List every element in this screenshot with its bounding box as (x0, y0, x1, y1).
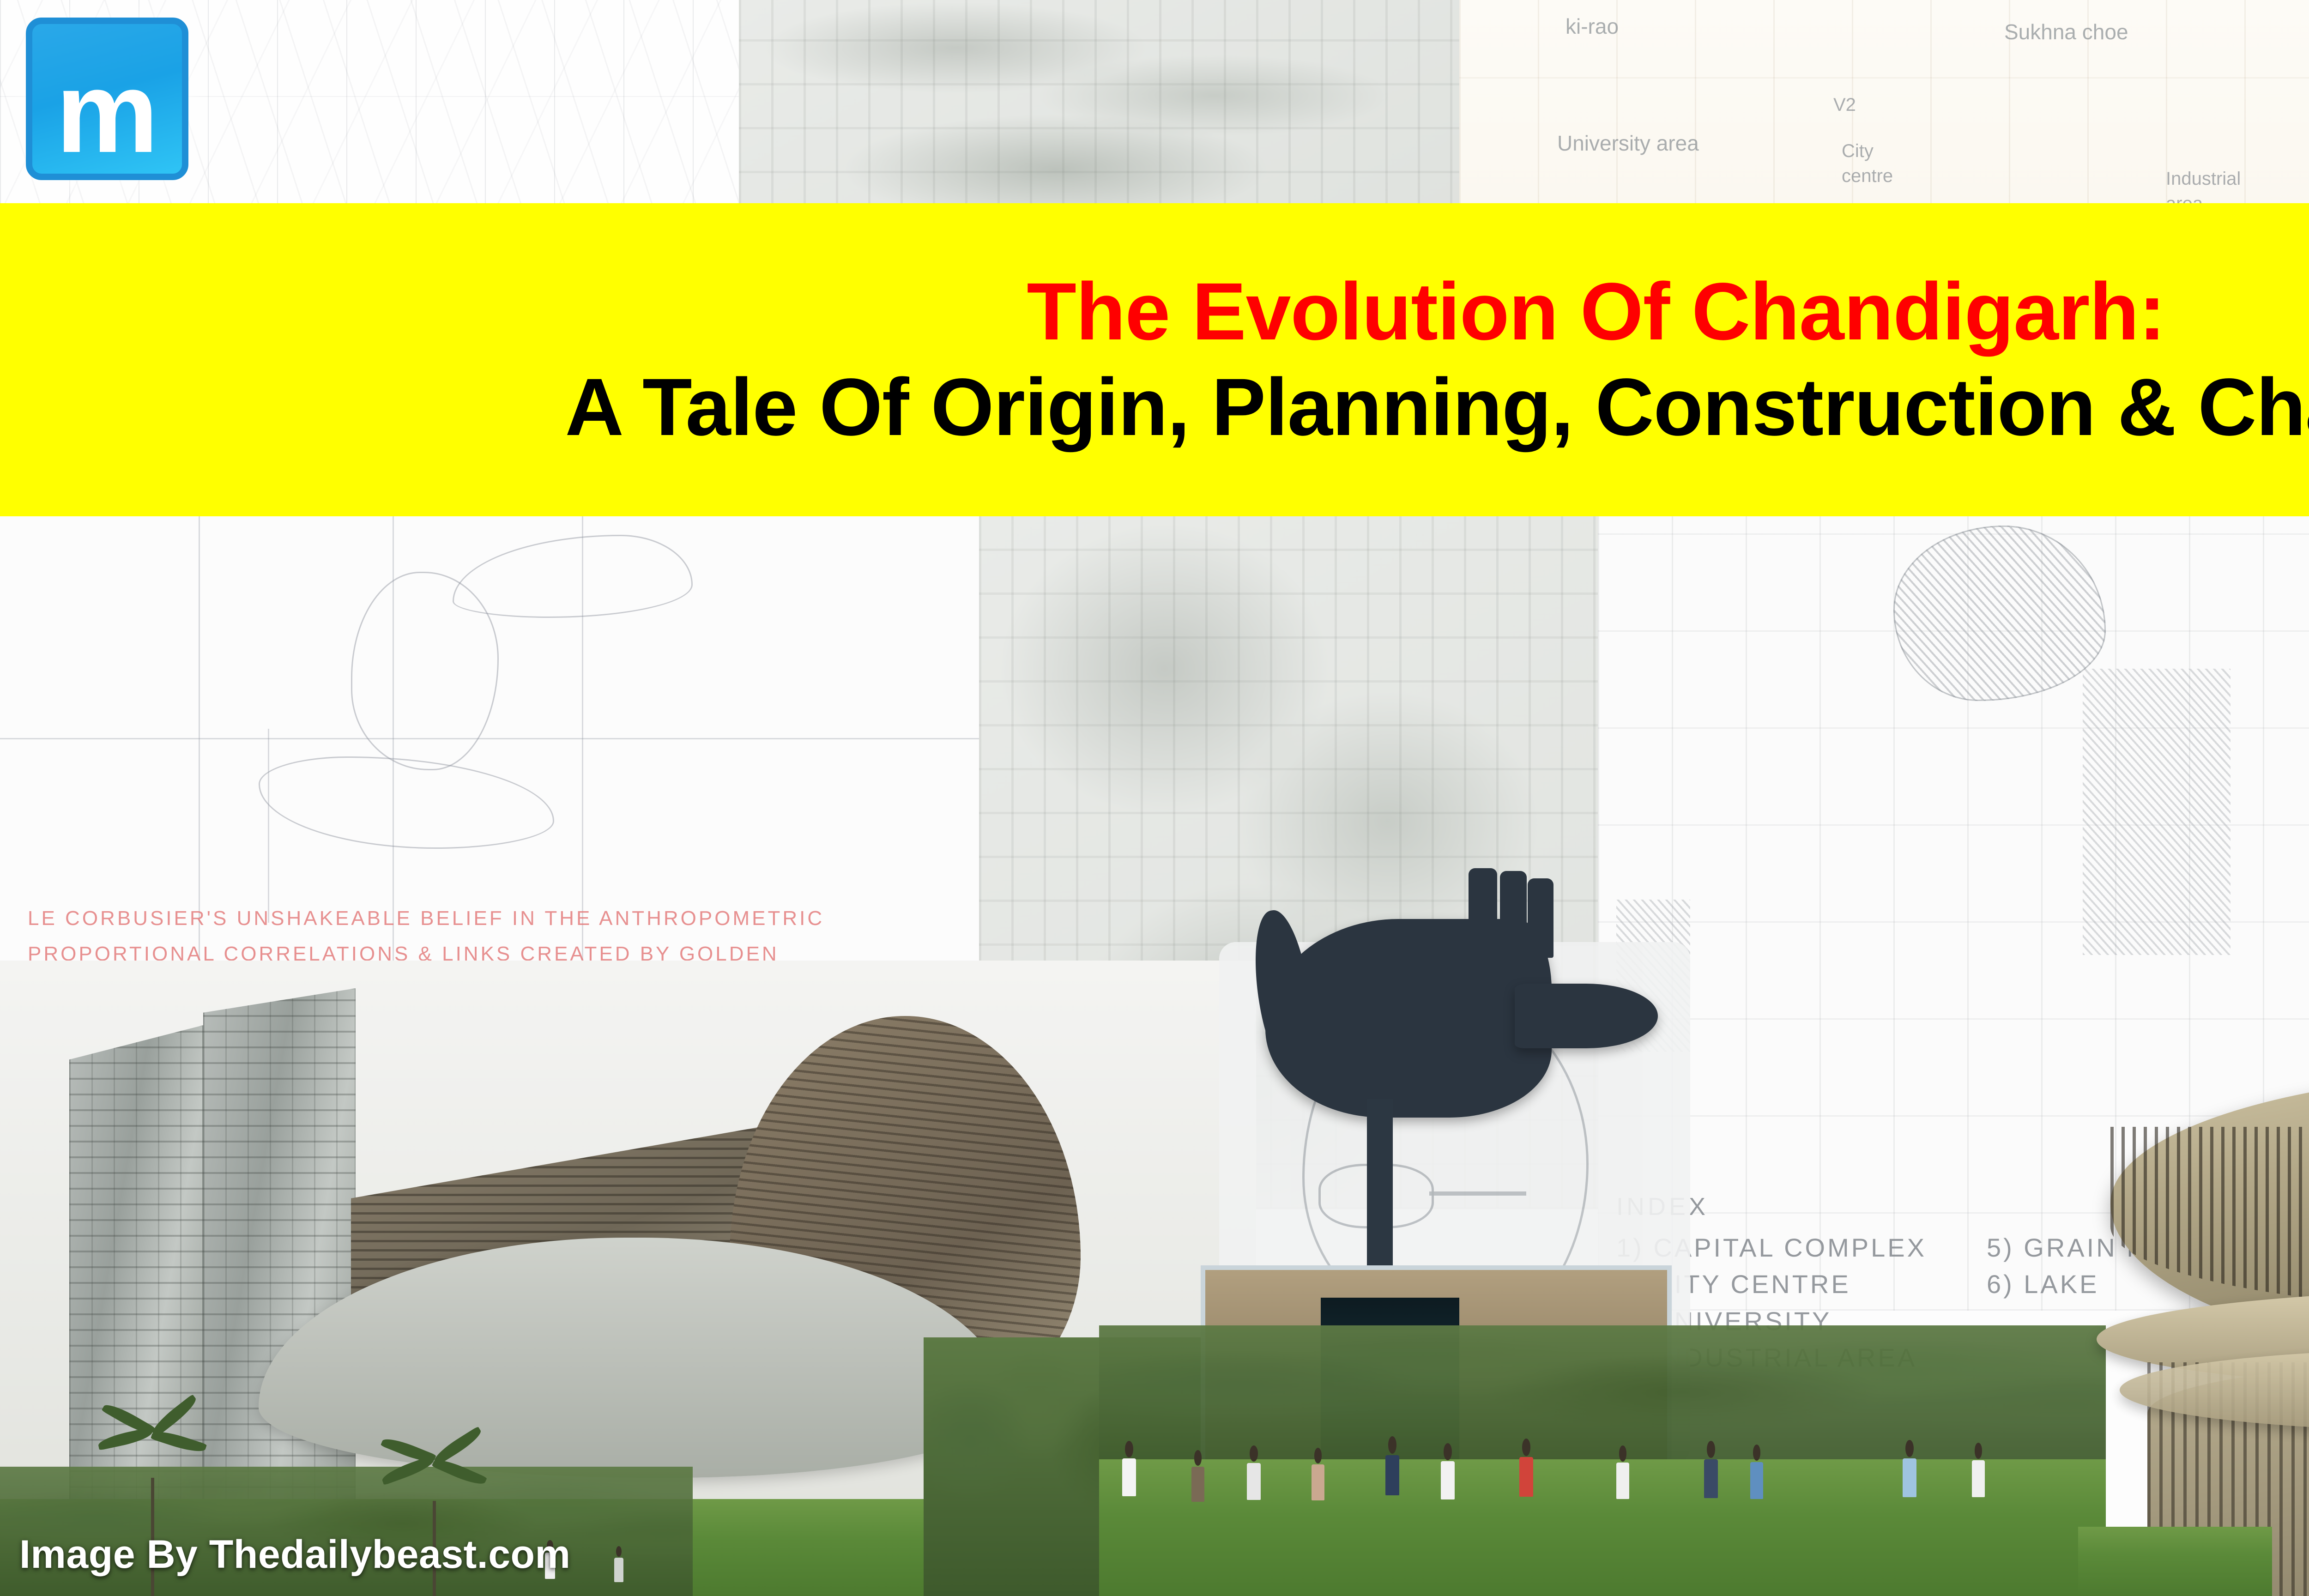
open-hand-finger-3 (1528, 878, 1553, 958)
render-person-2 (614, 1546, 623, 1582)
modulor-box-left (268, 729, 269, 923)
plan-lake-shape (1893, 526, 2106, 701)
image-credit-text: Image By Thedailybeast.com (19, 1532, 571, 1578)
map-label-v2: V2 (1833, 95, 1856, 115)
crowd-person-12 (1972, 1443, 1985, 1497)
modulor-rule-h1 (0, 738, 979, 739)
crowd-person-5 (1385, 1436, 1399, 1495)
crowd-person-6 (1441, 1443, 1455, 1499)
museum-lawn (2078, 1527, 2272, 1596)
architectural-render-tile (0, 961, 1256, 1596)
crowd-person-7 (1519, 1439, 1533, 1497)
map-label-university-area: University area (1557, 131, 1699, 156)
crowd-person-2 (1191, 1450, 1204, 1502)
aerial-photo-tile-top (739, 0, 1459, 217)
page-title-secondary: A Tale Of Origin, Planning, Construction… (565, 365, 2309, 450)
map-label-sukhna-choe: Sukhna choe (2004, 19, 2128, 44)
mapsofindia-logo[interactable]: m (26, 18, 188, 180)
open-hand-pivot-pole (1367, 1099, 1393, 1284)
modulor-figure-leg (259, 756, 554, 849)
modulor-figure-arm (453, 535, 693, 618)
circular-museum-building (2078, 1030, 2309, 1596)
crowd-person-9 (1704, 1441, 1718, 1498)
crowd-person-4 (1312, 1448, 1324, 1500)
crowd-person-3 (1247, 1445, 1261, 1500)
poster-canvas: ki-rao Sukhna choe V2 University area Ci… (0, 0, 2309, 1596)
open-hand-finger-1 (1469, 868, 1497, 956)
open-hand-thumb (1247, 907, 1317, 1051)
corbusier-caption-line-1: LE CORBUSIER'S UNSHAKEABLE BELIEF IN THE… (28, 901, 824, 936)
open-hand-wing-tip (1515, 984, 1658, 1048)
crowd-person-8 (1616, 1445, 1629, 1499)
crowd-person-1 (1122, 1441, 1136, 1496)
title-banner: The Evolution Of Chandigarh: A Tale Of O… (0, 203, 2309, 516)
open-hand-finger-2 (1500, 871, 1527, 957)
map-label-ki-rao: ki-rao (1566, 14, 1619, 39)
plan-industrial-hatch (2083, 669, 2230, 955)
crowd-person-10 (1750, 1445, 1763, 1499)
page-title-primary: The Evolution Of Chandigarh: (1027, 269, 2165, 355)
logo-letter: m (56, 67, 158, 157)
crowd-person-11 (1903, 1440, 1916, 1497)
sepia-master-plan-tile: ki-rao Sukhna choe V2 University area Ci… (1459, 0, 2309, 217)
map-label-city-centre: City centre (1842, 139, 1911, 188)
